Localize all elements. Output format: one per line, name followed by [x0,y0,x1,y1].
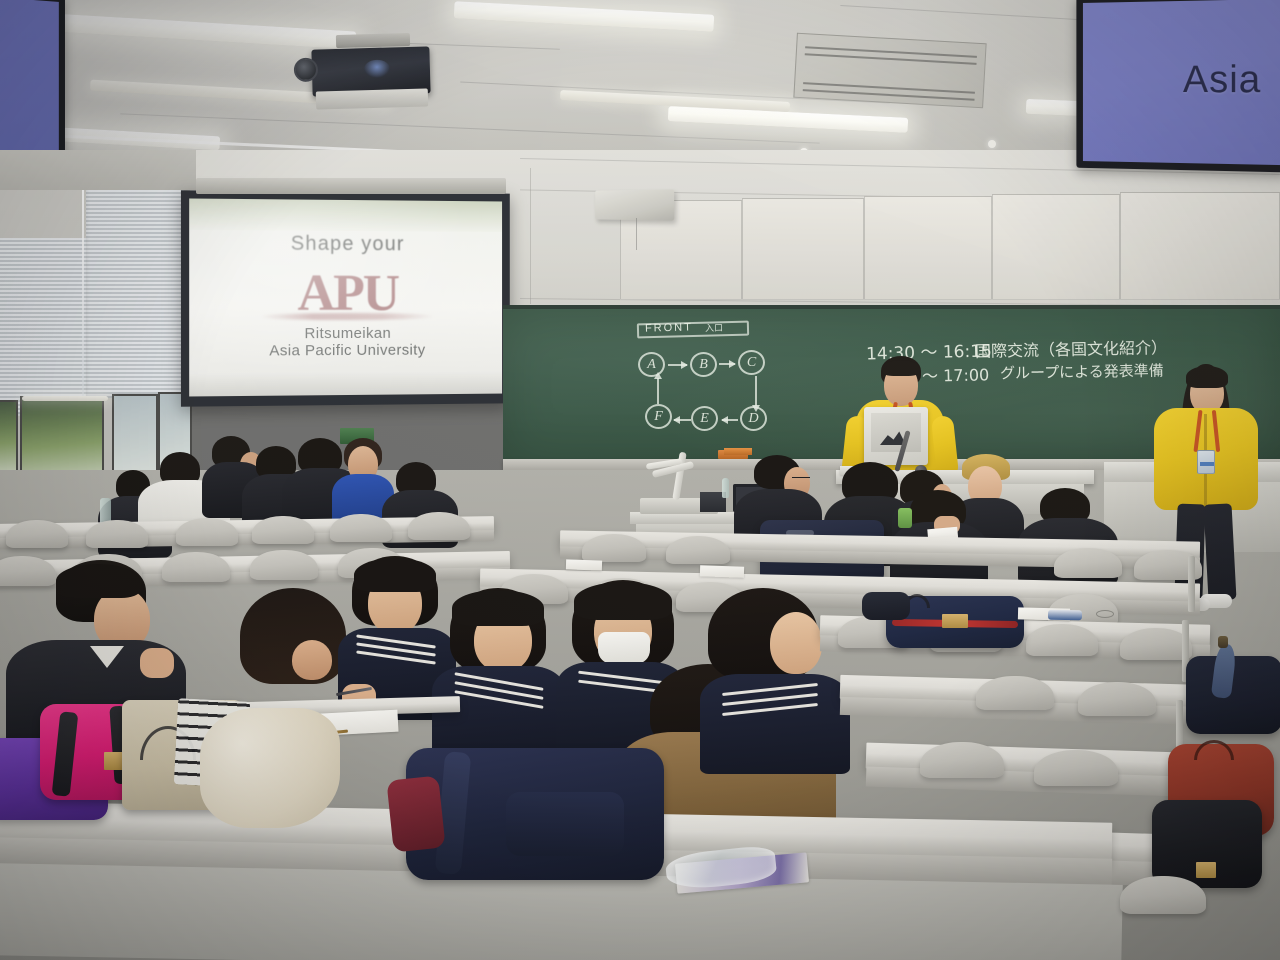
umbrella-tip [1218,636,1228,648]
blackboard-schedule-activity-2: グループによる発表準備 [1000,360,1164,384]
blackboard-front-label: FRONT [645,321,693,334]
green-item [898,508,912,528]
blackboard-arrow-e-f [674,419,691,421]
navy-backpack-pocket [506,792,624,856]
podium-monitor [864,407,928,465]
blackboard-arrow-a-b [668,364,687,366]
student-hair-fringe [56,564,140,598]
wall-cabinet [864,196,992,300]
chair[interactable] [582,534,646,562]
window-blinds-upper-right[interactable] [86,186,184,398]
desk-leg [1188,556,1195,612]
water-bottle-desk [722,478,729,498]
wall-cabinet [742,198,864,300]
chair[interactable] [976,676,1054,710]
slide-top-band [189,198,502,232]
paper-on-desk-right [566,559,602,570]
chair[interactable] [250,550,318,580]
phone-on-desk [1048,610,1082,621]
blackboard-node-e: E [691,406,718,431]
duffel-name-tag [942,614,968,628]
blackboard-schedule-time-1: 14:30 ～ 16:15 [866,336,992,364]
face-mask [598,632,650,664]
blackboard-front-sublabel: 入口 [705,321,723,335]
blackboard-arrow-b-c [719,363,735,365]
blackboard-node-c: C [738,350,765,375]
chair[interactable] [1034,750,1118,786]
blackboard-schedule-time-2: ～ 17:00 [922,361,990,386]
dark-clothing-on-desk [862,592,910,620]
chair[interactable] [666,536,730,564]
student-hand [140,648,174,678]
wall-panel-line [530,168,531,304]
chair[interactable] [1054,548,1122,578]
slide-subtitle-line1: Ritsumeikan [189,324,502,342]
wall-monitor-top-right: Asia [1076,0,1280,172]
student-hair-fringe [574,582,672,620]
scissors-on-desk [1096,610,1114,618]
assistant-hair-front [1186,366,1228,388]
blackboard-node-f: F [645,404,672,429]
blackboard-arrow-d-e [722,419,738,421]
left-wall-header [0,150,196,190]
black-bag-tag [1196,862,1216,878]
chair[interactable] [86,520,148,548]
monitor-screen: Asia [1083,0,1280,165]
student-face [770,612,822,674]
window-pane-center [20,396,104,478]
projection-screen-housing [196,178,506,194]
chair[interactable] [162,552,230,582]
cream-knit-item [200,708,340,828]
speaker-cord [636,218,637,250]
monitor-text: Asia [1183,59,1261,103]
wall-speaker [595,189,674,220]
chair[interactable] [6,520,68,548]
blackboard-arrow-f-a [657,378,659,404]
window-light-bar [22,396,108,401]
chair[interactable] [1026,624,1098,656]
presenter-hair-front [882,360,920,376]
backpack-red-accent [386,775,445,852]
shelf-orange-marker [724,448,752,455]
chair[interactable] [1078,682,1156,716]
window-pane-right [112,394,158,480]
slide-subtitle-line2: Asia Pacific University [189,342,502,361]
window-pane-left [0,400,18,472]
glasses-icon [792,477,810,482]
assistant-id-badge [1197,450,1215,474]
chair[interactable] [252,516,314,544]
wall-cabinet [1120,192,1280,300]
wall-cabinet [992,194,1120,300]
classroom-scene: Asia Shape your APU Ritsumeikan Asia Pac… [0,0,1280,960]
student-face [292,640,332,680]
slide-tagline: Shape your [189,232,502,257]
projection-surface: Shape your APU Ritsumeikan Asia Pacific … [189,198,502,396]
blackboard-node-b: B [690,352,717,377]
paper-on-desk-right-2 [700,565,744,578]
chair[interactable] [330,514,392,542]
blackboard-schedule-activity-1: 国際交流（各国文化紹介） [975,334,1167,362]
projection-screen: Shape your APU Ritsumeikan Asia Pacific … [181,190,510,406]
blackboard-arrow-c-d [755,376,757,406]
chair[interactable] [920,742,1004,778]
chair[interactable] [1120,876,1206,914]
window-blinds-upper-left[interactable] [0,238,88,416]
chair[interactable] [408,512,470,540]
blind-cord[interactable] [82,186,84,398]
student-hair-fringe [452,590,544,626]
assistant-pants-right [1204,503,1237,600]
student-hair-fringe [354,558,436,592]
chair[interactable] [176,518,238,546]
